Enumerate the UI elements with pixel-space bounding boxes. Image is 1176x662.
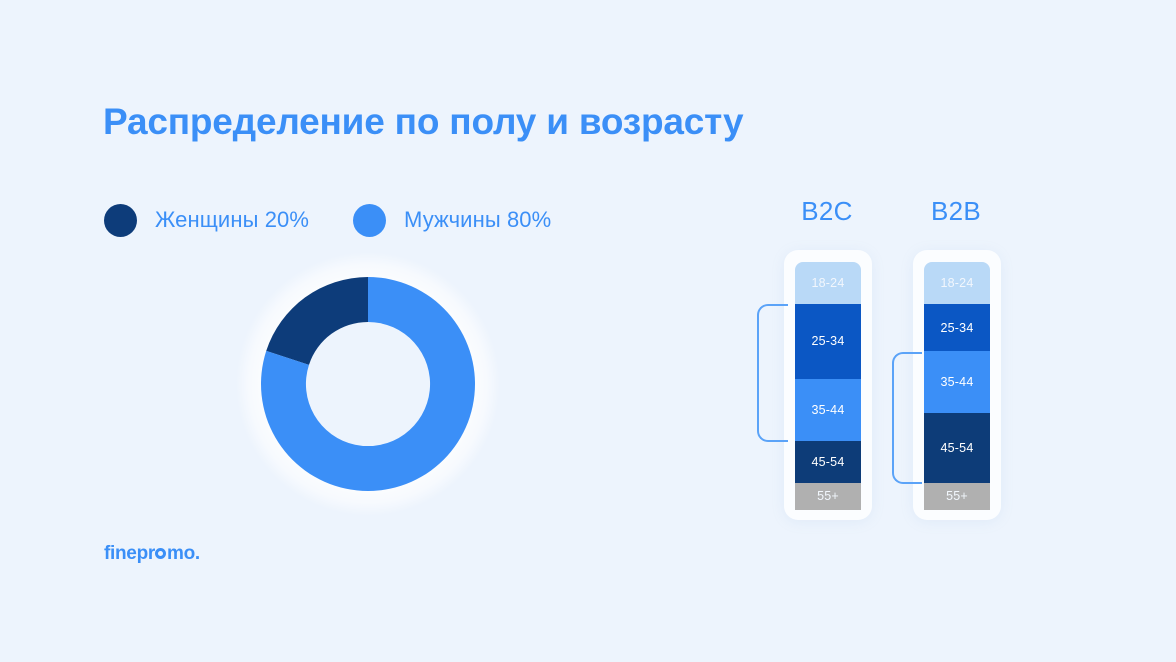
age-segment-label: 45-54: [812, 455, 845, 469]
donut-svg: [236, 252, 500, 516]
stacked-bar-b2b: 18-2425-3435-4445-5455+: [924, 262, 990, 510]
bracket-b2b: [892, 352, 922, 484]
gender-legend: Женщины 20% Мужчины 80%: [104, 200, 551, 240]
bracket-b2c: [757, 304, 788, 442]
stacked-bar-b2c: 18-2425-3435-4445-5455+: [795, 262, 861, 510]
logo-text-part1: finepr: [104, 543, 155, 565]
age-segment-b2c-55plus: 55+: [795, 483, 861, 510]
age-segment-label: 35-44: [941, 375, 974, 389]
age-segment-b2c-45-54: 45-54: [795, 441, 861, 483]
age-segment-label: 55+: [946, 489, 968, 503]
slide-canvas: Распределение по полу и возрасту Женщины…: [0, 0, 1176, 662]
age-segment-label: 35-44: [812, 403, 845, 417]
logo-text-part2: mo.: [167, 543, 200, 565]
circle-dot-icon: [353, 204, 386, 237]
age-segment-b2c-25-34: 25-34: [795, 304, 861, 378]
age-segment-label: 25-34: [941, 321, 974, 335]
age-segment-b2b-25-34: 25-34: [924, 304, 990, 351]
circle-dot-icon: [104, 204, 137, 237]
brand-logo: finepr mo.: [104, 543, 200, 565]
age-segment-b2b-45-54: 45-54: [924, 413, 990, 482]
age-segment-label: 18-24: [941, 276, 974, 290]
age-segment-label: 45-54: [941, 441, 974, 455]
age-segment-label: 18-24: [812, 276, 845, 290]
legend-item-women: Женщины 20%: [104, 204, 309, 237]
age-segment-b2b-18-24: 18-24: [924, 262, 990, 304]
age-segment-b2b-55plus: 55+: [924, 483, 990, 510]
donut-slices: [261, 277, 475, 491]
age-segment-label: 25-34: [812, 334, 845, 348]
donut-o-icon: [155, 548, 166, 559]
donut-slice-women: [266, 277, 368, 365]
age-distribution-columns: B2C B2B 18-2425-3435-4445-5455+ 18-2425-…: [740, 196, 1040, 526]
age-segment-b2b-35-44: 35-44: [924, 351, 990, 413]
gender-donut-chart: [236, 252, 500, 516]
column-header-b2c: B2C: [777, 196, 877, 227]
legend-label-women: Женщины 20%: [155, 207, 309, 233]
age-segment-label: 55+: [817, 489, 839, 503]
page-title: Распределение по полу и возрасту: [103, 101, 743, 143]
age-segment-b2c-35-44: 35-44: [795, 379, 861, 441]
age-segment-b2c-18-24: 18-24: [795, 262, 861, 304]
legend-item-men: Мужчины 80%: [353, 204, 551, 237]
legend-label-men: Мужчины 80%: [404, 207, 551, 233]
column-header-b2b: B2B: [906, 196, 1006, 227]
